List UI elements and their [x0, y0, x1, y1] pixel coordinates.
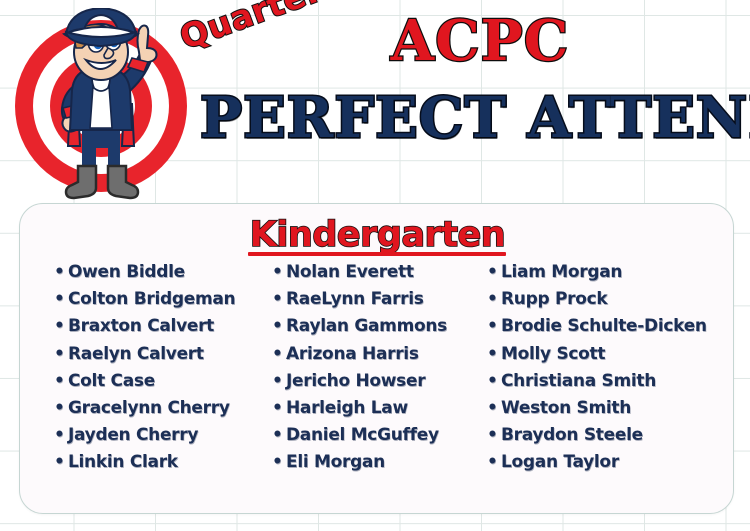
- list-item: •Brodie Schulte-Dicken: [487, 316, 733, 343]
- bullet-icon: •: [272, 454, 286, 471]
- name-column-1: •Owen Biddle •Colton Bridgeman •Braxton …: [54, 262, 272, 507]
- student-name: Raelyn Calvert: [68, 344, 204, 364]
- bullet-icon: •: [54, 318, 68, 335]
- name-columns: •Owen Biddle •Colton Bridgeman •Braxton …: [20, 262, 735, 507]
- student-name: Weston Smith: [501, 398, 631, 418]
- bullet-icon: •: [272, 400, 286, 417]
- student-name: Braydon Steele: [501, 425, 643, 445]
- bullet-icon: •: [54, 454, 68, 471]
- bullet-icon: •: [487, 318, 501, 335]
- list-item: •Braydon Steele: [487, 425, 733, 452]
- student-name: Molly Scott: [501, 344, 605, 364]
- poster-header: Quarter 1 ACPC PERFECT ATTENDANCE: [0, 0, 750, 205]
- student-name: Braxton Calvert: [68, 316, 214, 336]
- bullet-icon: •: [487, 400, 501, 417]
- list-item: •RaeLynn Farris: [272, 289, 487, 316]
- bullet-icon: •: [272, 318, 286, 335]
- grade-heading: Kindergarten: [20, 215, 735, 255]
- list-item: •Arizona Harris: [272, 344, 487, 371]
- student-name: Christiana Smith: [501, 371, 656, 391]
- bullet-icon: •: [272, 373, 286, 390]
- student-name: Raylan Gammons: [286, 316, 447, 336]
- bullet-icon: •: [54, 400, 68, 417]
- list-item: •Colt Case: [54, 371, 272, 398]
- student-name: Arizona Harris: [286, 344, 419, 364]
- bullet-icon: •: [487, 346, 501, 363]
- bullet-icon: •: [54, 291, 68, 308]
- list-item: •Harleigh Law: [272, 398, 487, 425]
- name-column-2: •Nolan Everett •RaeLynn Farris •Raylan G…: [272, 262, 487, 507]
- student-name: RaeLynn Farris: [286, 289, 424, 309]
- list-item: •Raylan Gammons: [272, 316, 487, 343]
- list-item: •Liam Morgan: [487, 262, 733, 289]
- student-name: Rupp Prock: [501, 289, 607, 309]
- bullet-icon: •: [487, 427, 501, 444]
- bullet-icon: •: [272, 264, 286, 281]
- quarter-label: Quarter 1: [175, 0, 361, 57]
- list-item: •Logan Taylor: [487, 452, 733, 479]
- bullet-icon: •: [54, 427, 68, 444]
- student-name: Jericho Howser: [286, 371, 425, 391]
- student-name: Eli Morgan: [286, 452, 385, 472]
- bullet-icon: •: [272, 427, 286, 444]
- student-name: Linkin Clark: [68, 452, 178, 472]
- name-list-2: •Nolan Everett •RaeLynn Farris •Raylan G…: [272, 262, 487, 480]
- name-column-3: •Liam Morgan •Rupp Prock •Brodie Schulte…: [487, 262, 733, 507]
- list-item: •Raelyn Calvert: [54, 344, 272, 371]
- list-item: •Christiana Smith: [487, 371, 733, 398]
- school-abbreviation-title: ACPC: [380, 12, 580, 70]
- list-item: •Colton Bridgeman: [54, 289, 272, 316]
- name-list-1: •Owen Biddle •Colton Bridgeman •Braxton …: [54, 262, 272, 480]
- list-item: •Nolan Everett: [272, 262, 487, 289]
- bullet-icon: •: [272, 291, 286, 308]
- bullet-icon: •: [487, 264, 501, 281]
- list-item: •Jericho Howser: [272, 371, 487, 398]
- bullet-icon: •: [272, 346, 286, 363]
- list-item: •Eli Morgan: [272, 452, 487, 479]
- list-item: •Weston Smith: [487, 398, 733, 425]
- student-name: Brodie Schulte-Dicken: [501, 316, 707, 336]
- student-name: Nolan Everett: [286, 262, 414, 282]
- student-name: Colt Case: [68, 371, 155, 391]
- student-name: Jayden Cherry: [68, 425, 198, 445]
- page-title: PERFECT ATTENDANCE: [200, 88, 745, 148]
- patriot-mascot-bullseye-logo: [8, 8, 194, 204]
- student-name: Liam Morgan: [501, 262, 622, 282]
- student-name: Logan Taylor: [501, 452, 619, 472]
- bullet-icon: •: [487, 291, 501, 308]
- bullet-icon: •: [487, 454, 501, 471]
- student-name: Daniel McGuffey: [286, 425, 439, 445]
- list-item: •Daniel McGuffey: [272, 425, 487, 452]
- list-item: •Molly Scott: [487, 344, 733, 371]
- bullet-icon: •: [54, 264, 68, 281]
- list-item: •Rupp Prock: [487, 289, 733, 316]
- list-item: •Gracelynn Cherry: [54, 398, 272, 425]
- student-name: Owen Biddle: [68, 262, 185, 282]
- list-item: •Linkin Clark: [54, 452, 272, 479]
- list-item: •Jayden Cherry: [54, 425, 272, 452]
- list-item: •Owen Biddle: [54, 262, 272, 289]
- student-name: Colton Bridgeman: [68, 289, 235, 309]
- name-list-3: •Liam Morgan •Rupp Prock •Brodie Schulte…: [487, 262, 733, 480]
- student-name: Harleigh Law: [286, 398, 408, 418]
- bullet-icon: •: [54, 346, 68, 363]
- list-item: •Braxton Calvert: [54, 316, 272, 343]
- bullet-icon: •: [487, 373, 501, 390]
- student-name: Gracelynn Cherry: [68, 398, 230, 418]
- bullet-icon: •: [54, 373, 68, 390]
- names-card: Kindergarten •Owen Biddle •Colton Bridge…: [19, 203, 734, 514]
- grade-heading-underline: [248, 252, 506, 256]
